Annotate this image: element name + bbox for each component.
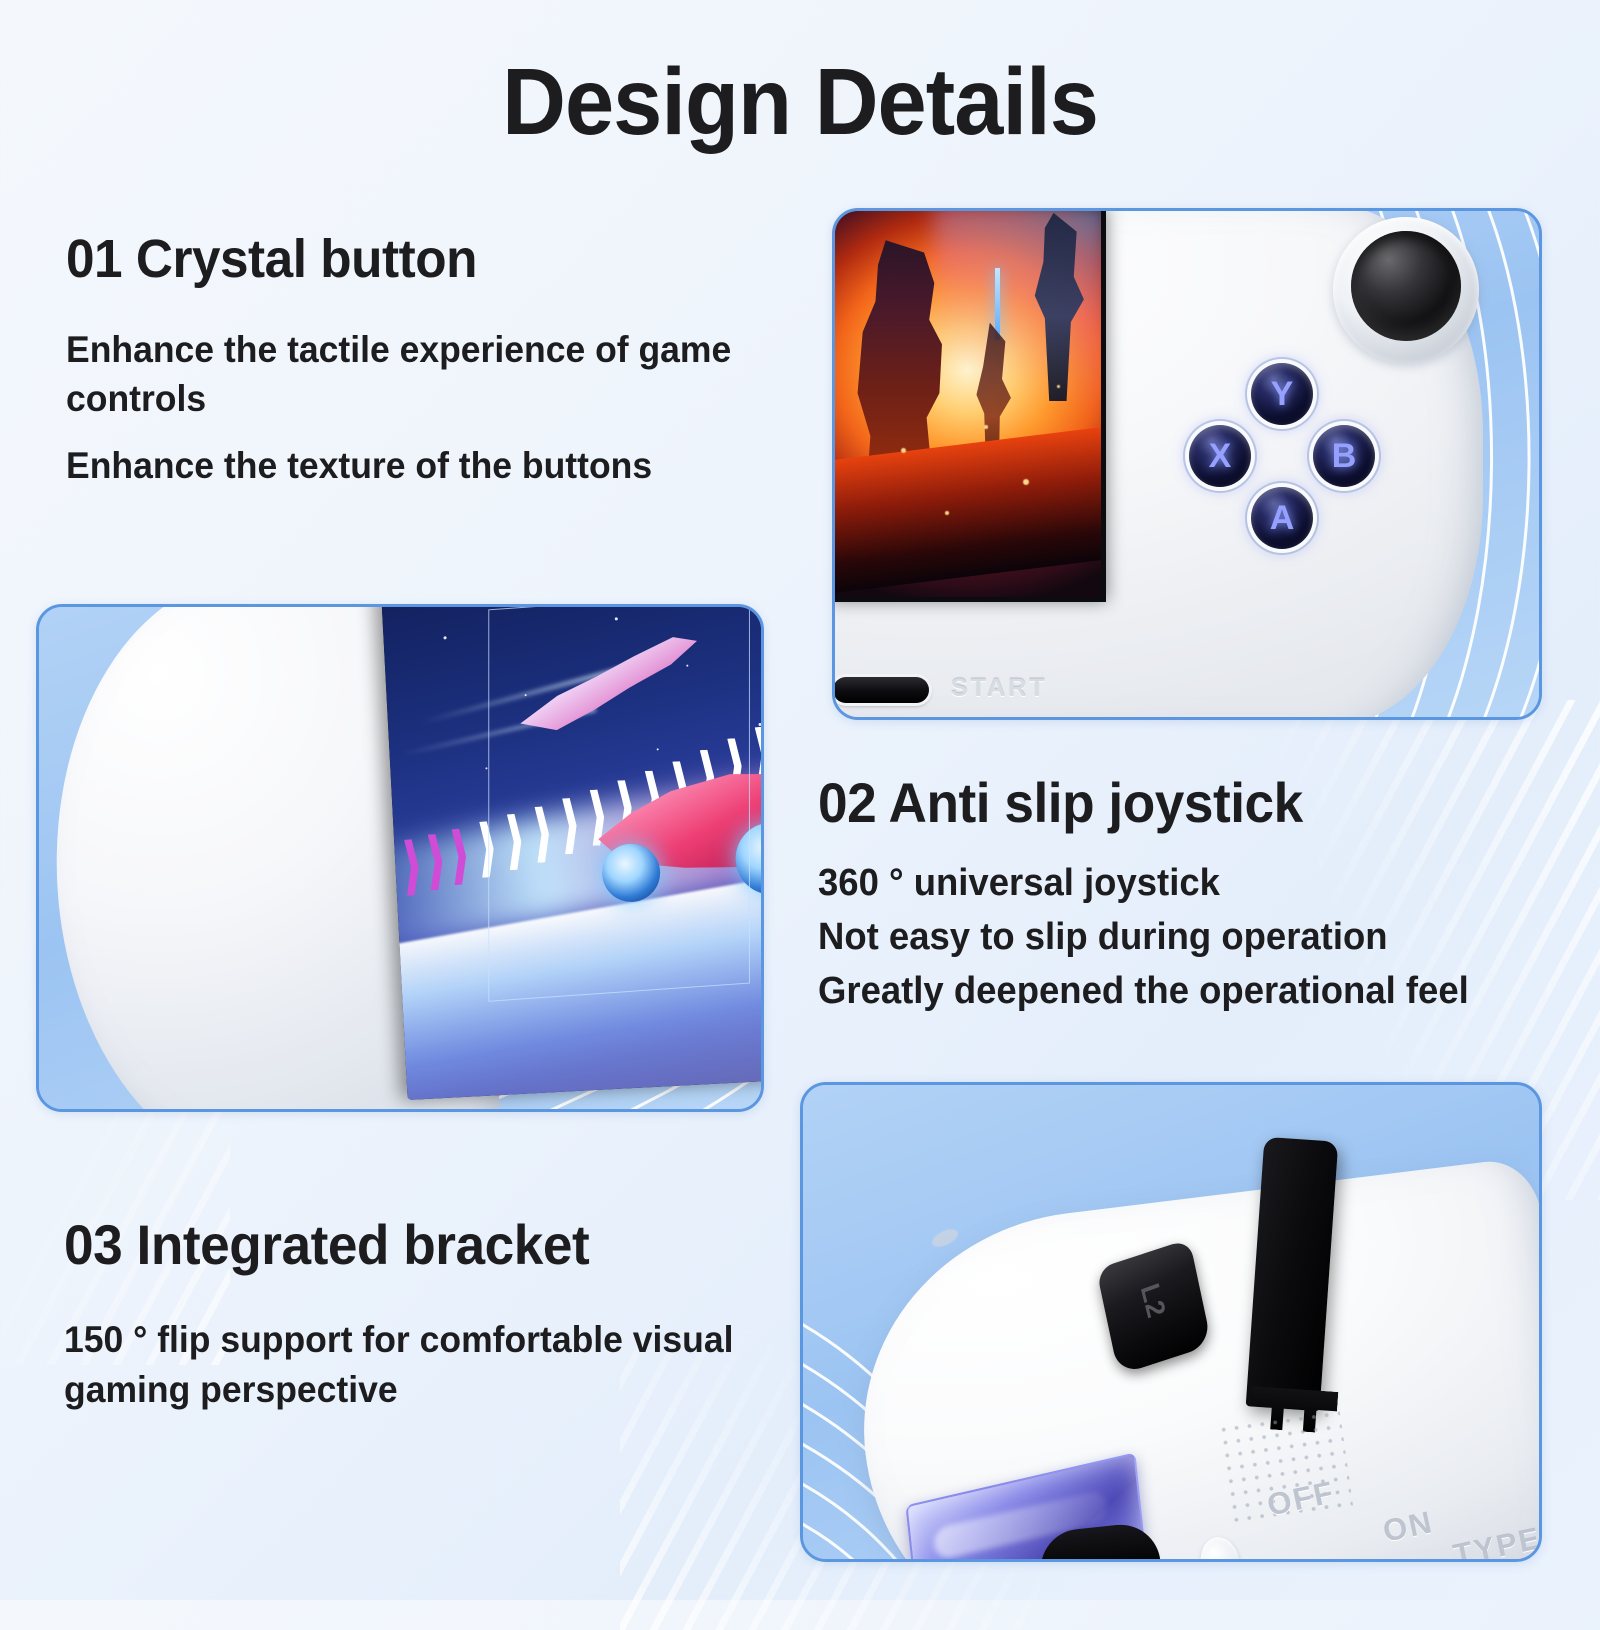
feature-block-crystal-button: 01 Crystal button Enhance the tactile ex… xyxy=(66,228,766,490)
shoulder-button-l2-label: L2 xyxy=(1134,1279,1171,1322)
handheld-console-front: Y X B A START xyxy=(832,208,1542,720)
feature-line-01-1: Enhance the tactile experience of game c… xyxy=(66,326,738,424)
screen-glass-reflection xyxy=(488,604,750,1002)
screen-star xyxy=(758,722,761,725)
feature-line-01-2: Enhance the texture of the buttons xyxy=(66,442,738,491)
button-x-label: X xyxy=(1209,439,1232,473)
button-a[interactable]: A xyxy=(1251,487,1313,549)
feature-heading-02: 02 Anti slip joystick xyxy=(818,770,1540,835)
right-joystick[interactable] xyxy=(1333,217,1479,363)
game-screen xyxy=(381,604,764,1100)
feature-heading-03: 03 Integrated bracket xyxy=(64,1212,748,1277)
button-b[interactable]: B xyxy=(1313,425,1375,487)
photo-card-crystal-button: Y X B A START xyxy=(832,208,1542,720)
photo-card-integrated-bracket: L2 OFF ON TYPE xyxy=(800,1082,1542,1562)
screen-ember xyxy=(984,425,988,429)
start-button-label: START xyxy=(951,674,1047,703)
button-x[interactable]: X xyxy=(1189,425,1251,487)
screen-ember xyxy=(901,448,906,453)
feature-line-02-2: Not easy to slip during operation xyxy=(818,911,1548,965)
screen-ember xyxy=(1057,385,1060,388)
button-y[interactable]: Y xyxy=(1251,363,1313,425)
feature-heading-01: 01 Crystal button xyxy=(66,228,731,290)
feature-line-02-1: 360 ° universal joystick xyxy=(818,857,1548,911)
feature-line-03-1: 150 ° flip support for comfortable visua… xyxy=(64,1315,755,1416)
button-y-label: Y xyxy=(1271,377,1294,411)
button-a-label: A xyxy=(1270,501,1295,535)
game-screen xyxy=(832,208,1101,597)
feature-line-02-3: Greatly deepened the operational feel xyxy=(818,965,1548,1019)
photo-card-joystick: SELECT xyxy=(36,604,764,1112)
screen-light-beam xyxy=(995,268,1000,340)
page-title: Design Details xyxy=(56,48,1544,157)
feature-block-integrated-bracket: 03 Integrated bracket 150 ° flip support… xyxy=(64,1212,784,1416)
start-button[interactable] xyxy=(833,677,929,703)
spacer xyxy=(66,424,766,442)
button-b-label: B xyxy=(1332,439,1357,473)
feature-block-anti-slip-joystick: 02 Anti slip joystick 360 ° universal jo… xyxy=(818,770,1578,1019)
